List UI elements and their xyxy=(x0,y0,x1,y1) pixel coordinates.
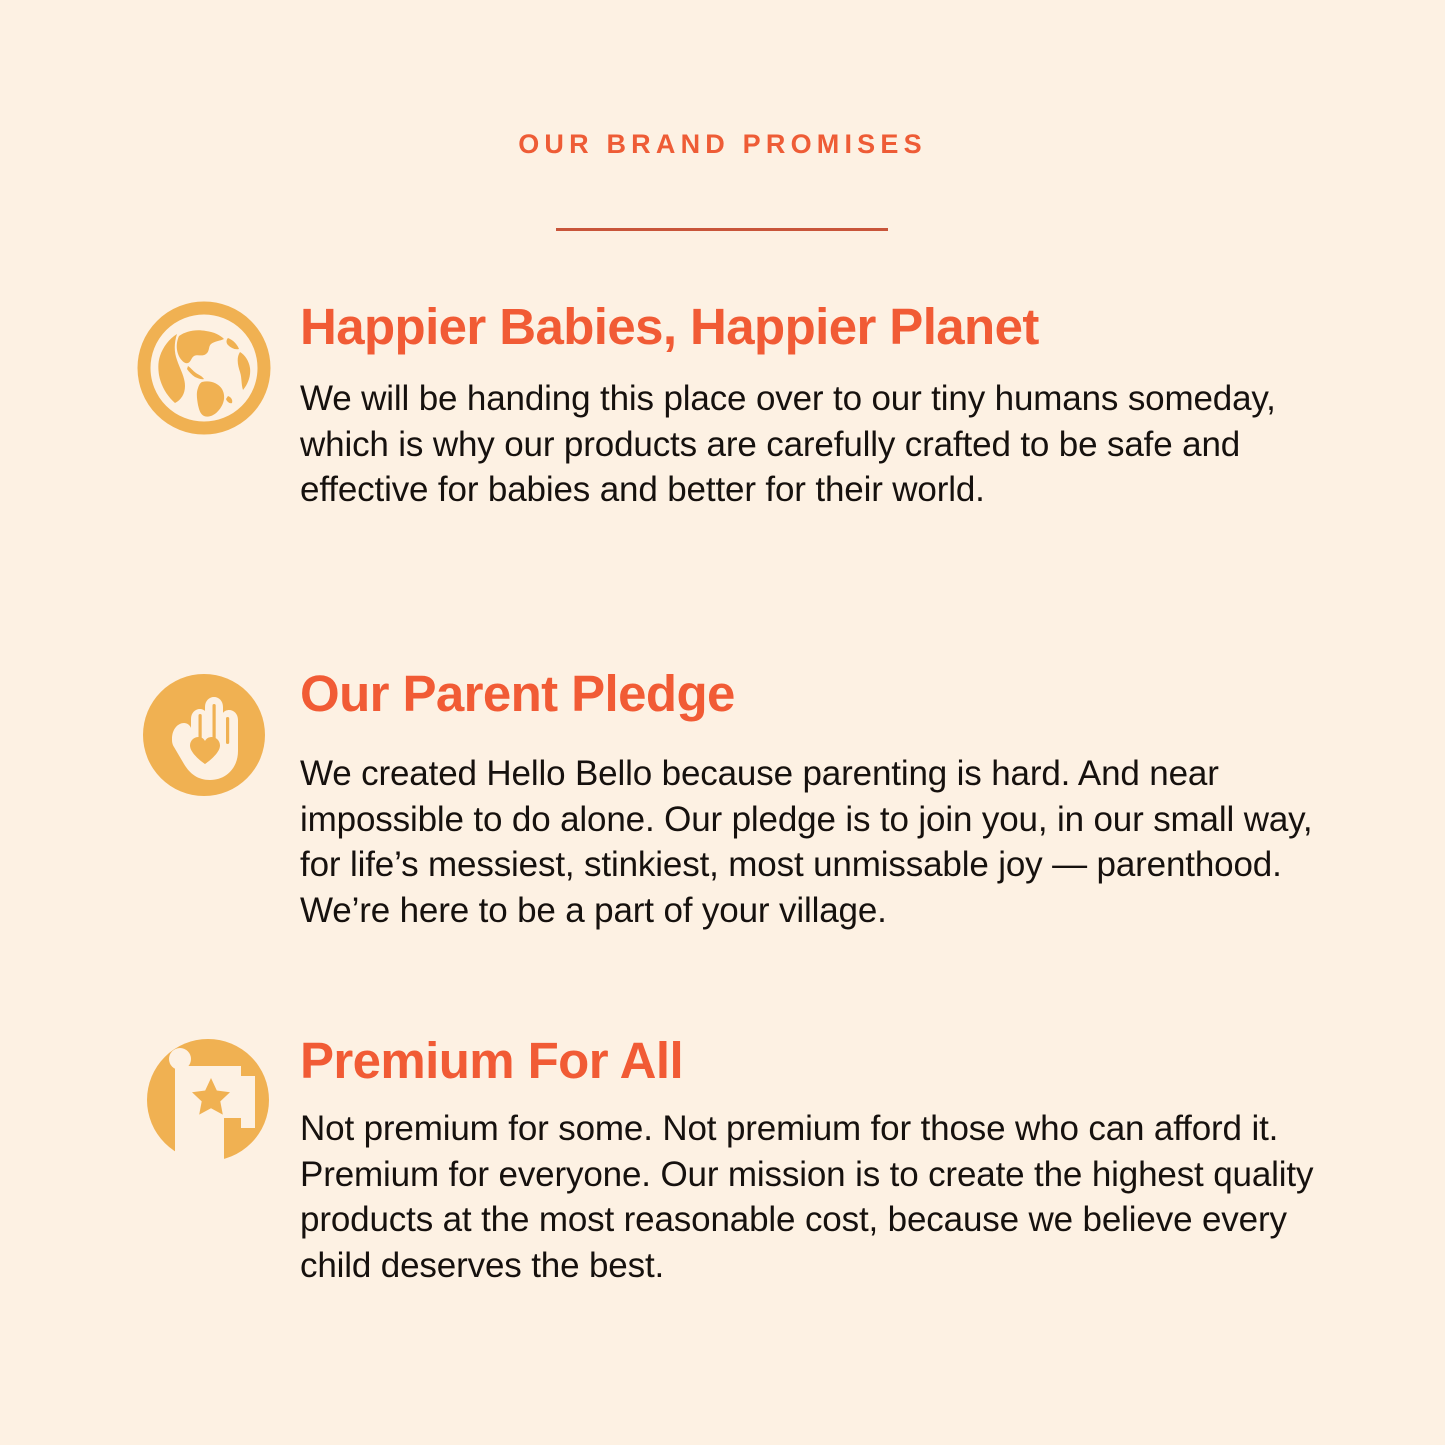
divider xyxy=(556,228,888,231)
promise-text-column: Our Parent Pledge We created Hello Bello… xyxy=(300,667,1360,933)
page-title: OUR BRAND PROMISES xyxy=(0,130,1445,160)
hand-heart-icon xyxy=(136,667,272,803)
brand-promises-page: OUR BRAND PROMISES xyxy=(0,0,1445,1445)
promise-title: Our Parent Pledge xyxy=(300,667,1360,721)
promise-text-column: Happier Babies, Happier Planet We will b… xyxy=(300,300,1360,513)
flag-star-icon xyxy=(136,1034,272,1170)
globe-icon xyxy=(136,300,272,436)
promise-body: We created Hello Bello because parenting… xyxy=(300,751,1340,933)
promise-body: We will be handing this place over to ou… xyxy=(300,376,1290,513)
promise-text-column: Premium For All Not premium for some. No… xyxy=(300,1034,1360,1288)
promise-title: Premium For All xyxy=(300,1034,1360,1088)
promise-body: Not premium for some. Not premium for th… xyxy=(300,1106,1340,1288)
promise-title: Happier Babies, Happier Planet xyxy=(300,300,1360,354)
